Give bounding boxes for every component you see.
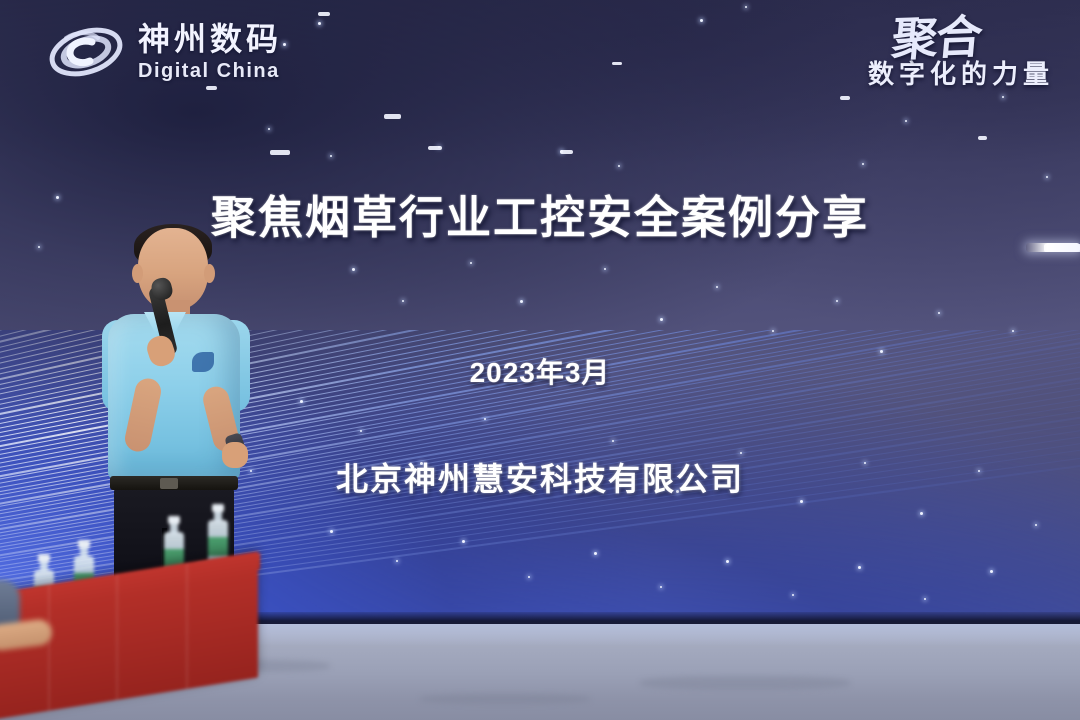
shirt-logo-icon	[192, 352, 214, 372]
speaker-head	[138, 228, 208, 310]
speaker-ear-right	[204, 264, 215, 283]
seated-attendee	[0, 572, 62, 668]
floor-scuff	[640, 676, 850, 690]
brand-logo: 神州数码 Digital China	[46, 16, 282, 88]
belt-buckle	[160, 478, 178, 489]
brand-name-cn: 神州数码	[138, 23, 282, 55]
event-mark: 聚合 数字化的力量	[868, 18, 1054, 91]
floor-scuff	[420, 694, 590, 704]
spiral-swirl-icon	[46, 16, 126, 88]
edge-light-bar	[1026, 243, 1080, 252]
brand-name-en: Digital China	[138, 61, 282, 81]
speaker-ear-left	[132, 264, 143, 283]
speaker-hand-right	[222, 442, 248, 468]
brand-logo-text: 神州数码 Digital China	[138, 23, 282, 81]
event-calligraphy: 聚合	[890, 16, 982, 61]
conference-stage-photo: 神州数码 Digital China 聚合 数字化的力量 聚焦烟草行业工控安全案…	[0, 0, 1080, 720]
